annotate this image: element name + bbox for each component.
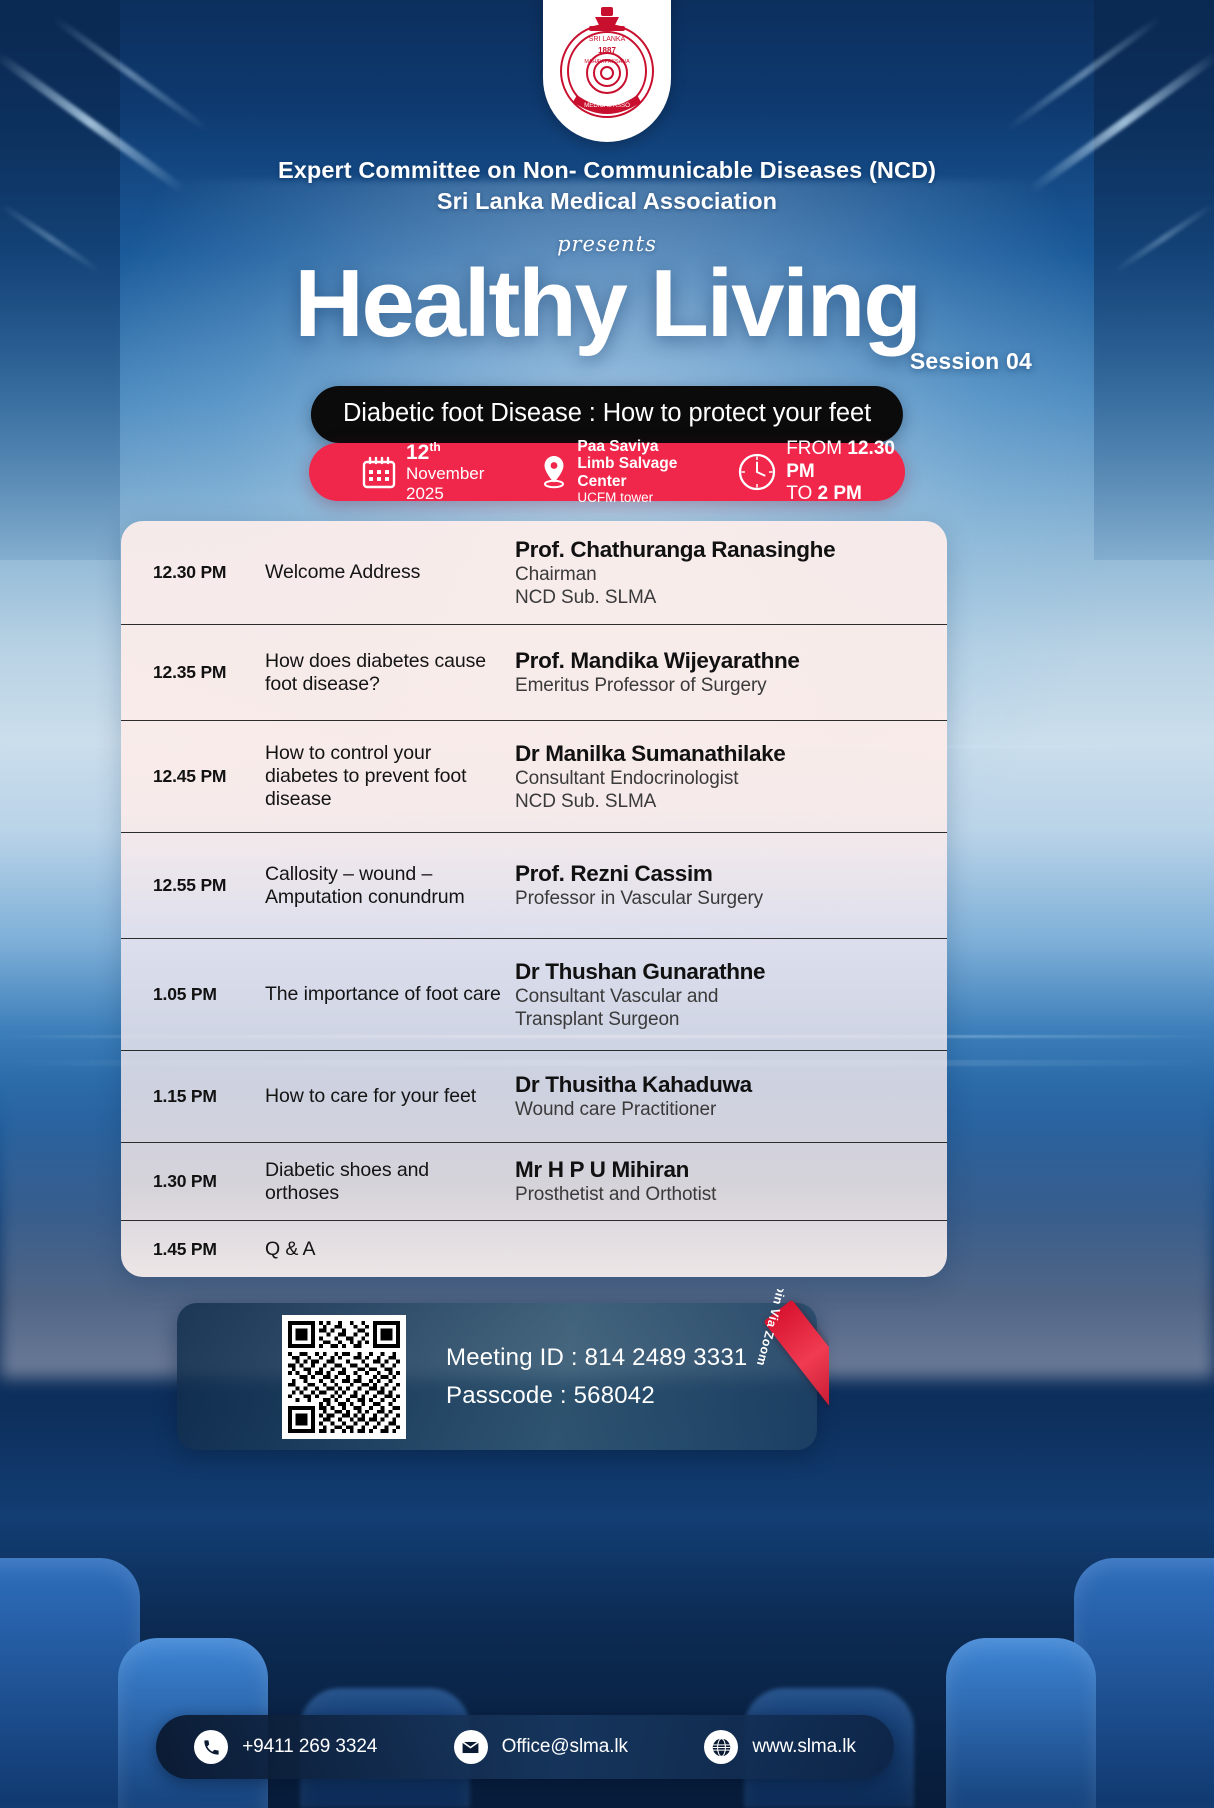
speaker-name: Mr H P U Mihiran [515, 1156, 929, 1183]
seat-silhouette [946, 1638, 1096, 1808]
event-time-group: FROM 12.30 PM TO 2 PM [707, 438, 905, 505]
zoom-credentials: Meeting ID : 814 2489 3331 Passcode : 56… [446, 1339, 747, 1413]
organisation-line-2: Sri Lanka Medical Association [0, 186, 1214, 217]
speaker-name: Prof. Mandika Wijeyarathne [515, 647, 929, 674]
event-date-group: 12th November 2025 [309, 441, 506, 503]
location-pin-icon [540, 454, 568, 490]
event-month-year: November 2025 [406, 464, 506, 503]
row-time: 12.35 PM [153, 662, 265, 683]
speaker-name: Prof. Rezni Cassim [515, 860, 929, 887]
passcode: Passcode : 568042 [446, 1377, 747, 1414]
row-speaker: Dr Manilka Sumanathilake Consultant Endo… [505, 740, 929, 813]
table-row: 12.45 PM How to control your diabetes to… [121, 721, 947, 833]
qr-code-image [288, 1321, 400, 1433]
row-time: 12.30 PM [153, 562, 265, 583]
venue-line-2: Limb Salvage Center [577, 455, 707, 490]
speaker-role-2: NCD Sub. SLMA [515, 586, 929, 609]
table-row: 12.30 PM Welcome Address Prof. Chathuran… [121, 521, 947, 625]
organisation-line-1: Expert Committee on Non- Communicable Di… [0, 155, 1214, 186]
table-row: 1.15 PM How to care for your feet Dr Thu… [121, 1051, 947, 1143]
table-row: 1.30 PM Diabetic shoes and orthoses Mr H… [121, 1143, 947, 1221]
header-block: Expert Committee on Non- Communicable Di… [0, 155, 1214, 375]
venue-line-1: Paa Saviya [577, 438, 707, 455]
contact-footer: +9411 269 3324 Office@slma.lk www.slma.l… [156, 1715, 894, 1779]
svg-text:SRI LANKA: SRI LANKA [589, 36, 626, 43]
row-time: 1.05 PM [153, 984, 265, 1005]
globe-icon [704, 1730, 738, 1764]
speaker-role-2: Transplant Surgeon [515, 1008, 929, 1031]
time-to: TO 2 PM [786, 483, 905, 505]
phone-glyph [202, 1738, 221, 1757]
contact-phone[interactable]: +9411 269 3324 [194, 1730, 377, 1764]
svg-text:1887: 1887 [598, 46, 616, 55]
row-topic: How to control your diabetes to prevent … [265, 742, 505, 810]
slma-crest-icon: SRI LANKA 1887 MEDICAL ASSO MAHAVIPASSAN… [555, 3, 659, 129]
day-suffix: th [429, 440, 440, 454]
row-time: 1.15 PM [153, 1086, 265, 1107]
speaker-role-1: Emeritus Professor of Surgery [515, 674, 929, 697]
row-speaker: Dr Thushan Gunarathne Consultant Vascula… [505, 958, 929, 1031]
envelope-glyph [461, 1738, 480, 1757]
envelope-icon [454, 1730, 488, 1764]
row-topic: Welcome Address [265, 561, 505, 584]
speaker-role-2: NCD Sub. SLMA [515, 790, 929, 813]
event-info-bar: 12th November 2025 Paa Saviya Limb Salva… [309, 443, 905, 501]
svg-text:MEDICAL ASSO: MEDICAL ASSO [584, 102, 630, 109]
speaker-name: Dr Thusitha Kahaduwa [515, 1071, 929, 1098]
phone-icon [194, 1730, 228, 1764]
row-speaker: Dr Thusitha Kahaduwa Wound care Practiti… [505, 1071, 929, 1121]
contact-email[interactable]: Office@slma.lk [454, 1730, 628, 1764]
row-topic: Callosity – wound – Amputation conundrum [265, 863, 505, 909]
meeting-id: Meeting ID : 814 2489 3331 [446, 1339, 747, 1376]
zoom-details-panel: Meeting ID : 814 2489 3331 Passcode : 56… [177, 1303, 817, 1450]
agenda-card: 12.30 PM Welcome Address Prof. Chathuran… [121, 521, 947, 1277]
svg-text:MAHAVIPASSANA: MAHAVIPASSANA [584, 59, 630, 65]
table-row: 12.55 PM Callosity – wound – Amputation … [121, 833, 947, 939]
topic-banner: Diabetic foot Disease : How to protect y… [311, 386, 903, 443]
row-topic: Q & A [265, 1238, 505, 1261]
speaker-name: Dr Thushan Gunarathne [515, 958, 929, 985]
calendar-icon [361, 454, 397, 490]
row-time: 12.55 PM [153, 875, 265, 896]
qr-code[interactable] [282, 1315, 406, 1439]
row-speaker: Prof. Mandika Wijeyarathne Emeritus Prof… [505, 647, 929, 697]
slma-logo-badge: SRI LANKA 1887 MEDICAL ASSO MAHAVIPASSAN… [543, 0, 671, 142]
row-speaker: Mr H P U Mihiran Prosthetist and Orthoti… [505, 1156, 929, 1206]
row-time: 1.45 PM [153, 1239, 265, 1260]
event-venue-group: Paa Saviya Limb Salvage Center UCFM towe… [506, 438, 707, 506]
phone-number: +9411 269 3324 [242, 1736, 377, 1758]
globe-glyph [711, 1737, 732, 1758]
venue-line-3: UCFM tower [577, 490, 707, 506]
row-topic: How to care for your feet [265, 1085, 505, 1108]
page-title: Healthy Living [0, 254, 1214, 354]
row-time: 1.30 PM [153, 1171, 265, 1192]
table-row: 12.35 PM How does diabetes cause foot di… [121, 625, 947, 721]
speaker-role-1: Wound care Practitioner [515, 1098, 929, 1121]
speaker-role-1: Professor in Vascular Surgery [515, 887, 929, 910]
speaker-name: Prof. Chathuranga Ranasinghe [515, 536, 929, 563]
speaker-role-1: Prosthetist and Orthotist [515, 1183, 929, 1206]
speaker-role-1: Consultant Endocrinologist [515, 767, 929, 790]
speaker-role-1: Consultant Vascular and [515, 985, 929, 1008]
speaker-role-1: Chairman [515, 563, 929, 586]
speaker-name: Dr Manilka Sumanathilake [515, 740, 929, 767]
event-day: 12th [406, 441, 506, 463]
table-row: 1.45 PM Q & A [121, 1221, 947, 1277]
email-address: Office@slma.lk [502, 1736, 628, 1758]
row-speaker: Prof. Chathuranga Ranasinghe Chairman NC… [505, 536, 929, 609]
contact-website[interactable]: www.slma.lk [704, 1730, 855, 1764]
row-topic: The importance of foot care [265, 983, 505, 1006]
row-time: 12.45 PM [153, 766, 265, 787]
time-from: FROM 12.30 PM [786, 438, 905, 483]
row-speaker: Prof. Rezni Cassim Professor in Vascular… [505, 860, 929, 910]
website-url: www.slma.lk [752, 1736, 855, 1758]
table-row: 1.05 PM The importance of foot care Dr T… [121, 939, 947, 1051]
row-topic: Diabetic shoes and orthoses [265, 1159, 505, 1205]
clock-icon [737, 452, 777, 492]
row-topic: How does diabetes cause foot disease? [265, 650, 505, 696]
